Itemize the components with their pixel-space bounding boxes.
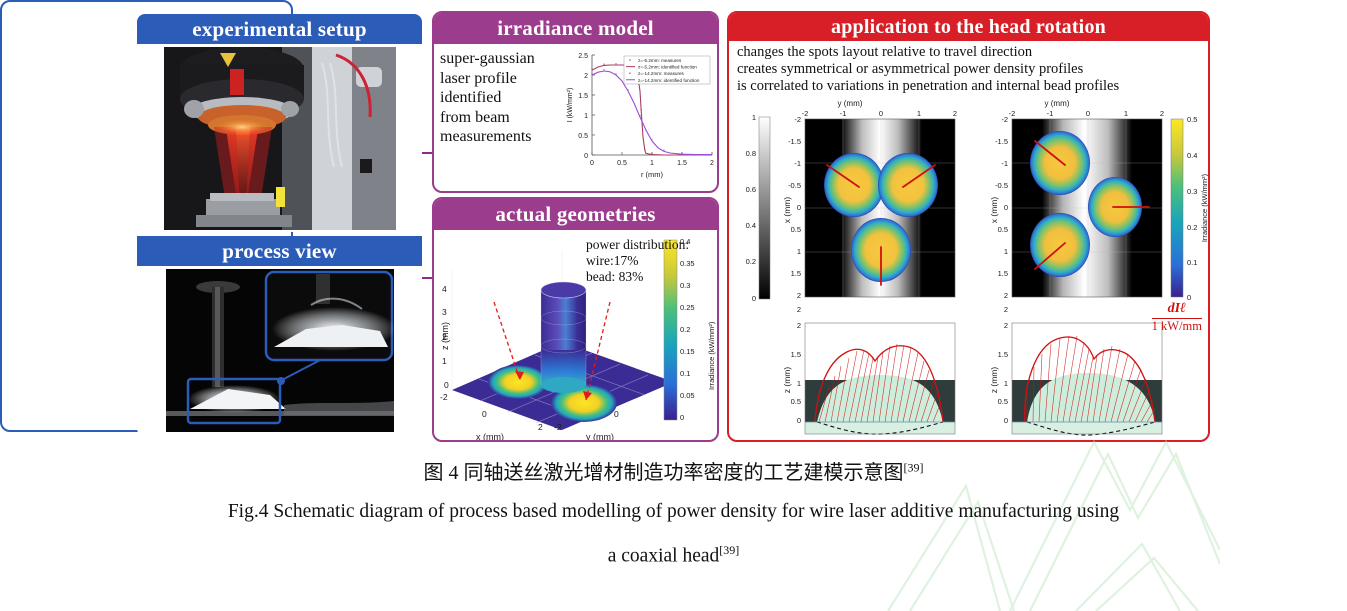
svg-text:1.5: 1.5 (791, 269, 801, 278)
svg-text:0.2: 0.2 (680, 325, 690, 334)
svg-text:0.5: 0.5 (617, 160, 627, 167)
svg-text:0.4: 0.4 (1187, 151, 1197, 160)
svg-text:1: 1 (1124, 438, 1128, 440)
svg-text:0: 0 (879, 109, 883, 118)
panel-application-head-rotation: application to the head rotation changes… (727, 11, 1210, 442)
power-distribution-label: power distribution: (586, 237, 689, 253)
svg-text:1: 1 (797, 247, 801, 256)
svg-text:Irradiance (kW/mm²): Irradiance (kW/mm²) (1200, 173, 1209, 242)
svg-text:1: 1 (917, 438, 921, 440)
svg-text:0: 0 (1004, 416, 1008, 425)
panel-title-irradiance-model: irradiance model (434, 13, 717, 44)
svg-text:z (mm): z (mm) (782, 367, 792, 394)
application-bullet-2: is correlated to variations in penetrati… (737, 78, 1207, 95)
svg-text:1: 1 (1124, 109, 1128, 118)
panel-irradiance-model: irradiance model super-gaussian laser pr… (432, 11, 719, 193)
caption-cn-text: 同轴送丝激光增材制造功率密度的工艺建模示意图 (464, 462, 904, 484)
svg-text:0.15: 0.15 (680, 347, 695, 356)
svg-text:1.5: 1.5 (677, 160, 687, 167)
svg-text:2: 2 (1160, 109, 1164, 118)
svg-text:2: 2 (710, 160, 714, 167)
svg-text:0: 0 (1004, 203, 1008, 212)
power-distribution-annotation: power distribution: wire:17% bead: 83% (586, 237, 689, 285)
svg-text:2: 2 (538, 422, 543, 432)
svg-text:0.5: 0.5 (998, 225, 1008, 234)
svg-text:0.2: 0.2 (746, 257, 756, 266)
caption-chinese: 图 4 同轴送丝激光增材制造功率密度的工艺建模示意图[39] (0, 456, 1347, 485)
svg-text:1: 1 (442, 356, 447, 366)
svg-text:0: 0 (680, 413, 684, 422)
application-bullets: changes the spots layout relative to tra… (737, 44, 1207, 95)
svg-text:x (mm): x (mm) (989, 197, 999, 224)
svg-text:0.4: 0.4 (746, 221, 756, 230)
svg-text:2: 2 (1004, 291, 1008, 300)
svg-text:2: 2 (1004, 321, 1008, 330)
svg-text:1: 1 (1004, 247, 1008, 256)
svg-text:0: 0 (797, 203, 801, 212)
svg-text:-0.5: -0.5 (788, 181, 801, 190)
svg-text:z=-5.2mm: measures: z=-5.2mm: measures (638, 58, 682, 63)
svg-text:1: 1 (650, 160, 654, 167)
svg-text:1.5: 1.5 (791, 350, 801, 359)
irradiance-desc-line-4: measurements (440, 127, 558, 147)
svg-text:z (mm): z (mm) (989, 367, 999, 394)
svg-text:0.5: 0.5 (791, 225, 801, 234)
svg-text:0.05: 0.05 (680, 391, 695, 400)
svg-text:0.25: 0.25 (680, 303, 695, 312)
svg-text:0: 0 (584, 153, 588, 160)
svg-text:-2: -2 (554, 422, 562, 432)
scale-legend-denominator: 1 kW/mm (1152, 320, 1202, 333)
svg-text:2.5: 2.5 (578, 53, 588, 60)
svg-text:x (mm): x (mm) (782, 197, 792, 224)
photo-process-view (166, 269, 394, 432)
svg-text:0: 0 (614, 409, 619, 419)
svg-text:0.1: 0.1 (1187, 258, 1197, 267)
svg-text:0.2: 0.2 (1187, 223, 1197, 232)
panel-experimental-setup: experimental setup (137, 14, 422, 232)
svg-text:-0.5: -0.5 (995, 181, 1008, 190)
caption-english-line1: Fig.4 Schematic diagram of process based… (0, 501, 1347, 523)
wire-percent-label: wire:17% (586, 253, 689, 269)
svg-text:-1: -1 (1047, 438, 1054, 440)
svg-text:0.5: 0.5 (1187, 115, 1197, 124)
svg-text:1.5: 1.5 (578, 93, 588, 100)
svg-text:x (mm): x (mm) (476, 432, 504, 442)
svg-text:0: 0 (482, 409, 487, 419)
scale-legend-di-dl: dIℓ 1 kW/mm (1152, 302, 1202, 333)
svg-text:-1: -1 (1047, 109, 1054, 118)
svg-text:2: 2 (797, 321, 801, 330)
caption-cn-ref: [39] (904, 460, 924, 474)
panel-title-application: application to the head rotation (729, 13, 1208, 41)
svg-text:0: 0 (1086, 438, 1090, 440)
panel-process-view: process view (137, 236, 422, 438)
application-bullet-0: changes the spots layout relative to tra… (737, 44, 1207, 61)
subfigure-left: 10.80.6 0.40.20 y (mm) -2-10 12 -2-1.5-1… (733, 95, 967, 440)
caption-cn-prefix: 图 4 (424, 462, 464, 484)
svg-text:0.5: 0.5 (578, 133, 588, 140)
svg-text:y (mm): y (mm) (1045, 99, 1070, 108)
svg-text:r (mm): r (mm) (641, 170, 664, 179)
irradiance-desc-line-1: laser profile (440, 69, 558, 89)
svg-text:z=-14.2mm: measures: z=-14.2mm: measures (638, 71, 685, 76)
svg-text:1.5: 1.5 (998, 350, 1008, 359)
svg-text:3: 3 (442, 307, 447, 317)
svg-text:0.5: 0.5 (791, 397, 801, 406)
caption-english-line2: a coaxial head[39] (0, 543, 1347, 568)
caption-en-ref: [39] (719, 543, 739, 557)
svg-text:-1: -1 (840, 109, 847, 118)
svg-text:-2: -2 (1009, 109, 1016, 118)
svg-text:z=-14.2mm: identified function: z=-14.2mm: identified function (638, 78, 700, 83)
svg-text:0.6: 0.6 (746, 185, 756, 194)
svg-text:-1.5: -1.5 (788, 137, 801, 146)
caption-en-text2: a coaxial head (608, 546, 720, 567)
svg-text:0.3: 0.3 (1187, 187, 1197, 196)
svg-text:1: 1 (584, 113, 588, 120)
svg-text:-2: -2 (802, 109, 809, 118)
svg-text:0: 0 (590, 160, 594, 167)
irradiance-desc-line-3: from beam (440, 108, 558, 128)
figure-root: experimental setup (0, 0, 1347, 611)
svg-text:Irradiance (kW/mm²): Irradiance (kW/mm²) (707, 321, 716, 390)
svg-text:0: 0 (879, 438, 883, 440)
svg-text:z (mm): z (mm) (440, 322, 450, 350)
application-bullet-1: creates symmetrical or asymmetrical powe… (737, 61, 1207, 78)
irradiance-desc-line-2: identified (440, 88, 558, 108)
svg-text:1: 1 (1004, 379, 1008, 388)
svg-text:0: 0 (1187, 293, 1191, 302)
svg-text:2: 2 (1160, 438, 1164, 440)
svg-text:2: 2 (1004, 305, 1008, 314)
panel-title-actual-geometries: actual geometries (434, 199, 717, 230)
panel-title-experimental-setup: experimental setup (137, 14, 422, 44)
svg-text:-2: -2 (794, 115, 801, 124)
svg-text:-1.5: -1.5 (995, 137, 1008, 146)
scale-legend-numerator: dIℓ (1152, 302, 1202, 317)
bead-percent-label: bead: 83% (586, 269, 689, 285)
irradiance-description: super-gaussian laser profile identified … (440, 49, 558, 147)
svg-text:0: 0 (797, 416, 801, 425)
svg-text:0.8: 0.8 (746, 149, 756, 158)
subfigure-right: y (mm) -2-10 12 -2-1.5-1 -0.500.5 11.52 … (957, 95, 1209, 440)
svg-text:1: 1 (752, 113, 756, 122)
svg-text:-1: -1 (1001, 159, 1008, 168)
svg-text:y (mm): y (mm) (838, 99, 863, 108)
svg-text:0: 0 (444, 380, 449, 390)
panel-title-process-view: process view (137, 236, 422, 266)
irradiance-desc-line-0: super-gaussian (440, 49, 558, 69)
svg-text:I (kW/mm²): I (kW/mm²) (567, 88, 574, 123)
svg-text:1.5: 1.5 (998, 269, 1008, 278)
svg-text:-2: -2 (1001, 115, 1008, 124)
svg-text:-2: -2 (1009, 438, 1016, 440)
chart-irradiance-profile: 00.511.522.500.511.52r (mm)I (kW/mm²)z=-… (562, 47, 717, 190)
svg-text:0: 0 (1086, 109, 1090, 118)
svg-text:y (mm): y (mm) (586, 432, 614, 442)
svg-text:0.1: 0.1 (680, 369, 690, 378)
svg-text:0: 0 (752, 294, 756, 303)
svg-text:2: 2 (584, 73, 588, 80)
svg-text:-2: -2 (440, 392, 448, 402)
svg-text:0.5: 0.5 (998, 397, 1008, 406)
svg-text:2: 2 (797, 305, 801, 314)
svg-text:1: 1 (797, 379, 801, 388)
photo-experimental-setup (164, 47, 396, 230)
panel-actual-geometries: actual geometries (432, 197, 719, 442)
svg-text:-1: -1 (840, 438, 847, 440)
svg-text:-2: -2 (802, 438, 809, 440)
svg-text:z=-5.2mm: identified function: z=-5.2mm: identified function (638, 65, 697, 70)
svg-text:-1: -1 (794, 159, 801, 168)
svg-text:2: 2 (797, 291, 801, 300)
svg-text:1: 1 (917, 109, 921, 118)
svg-text:4: 4 (442, 284, 447, 294)
